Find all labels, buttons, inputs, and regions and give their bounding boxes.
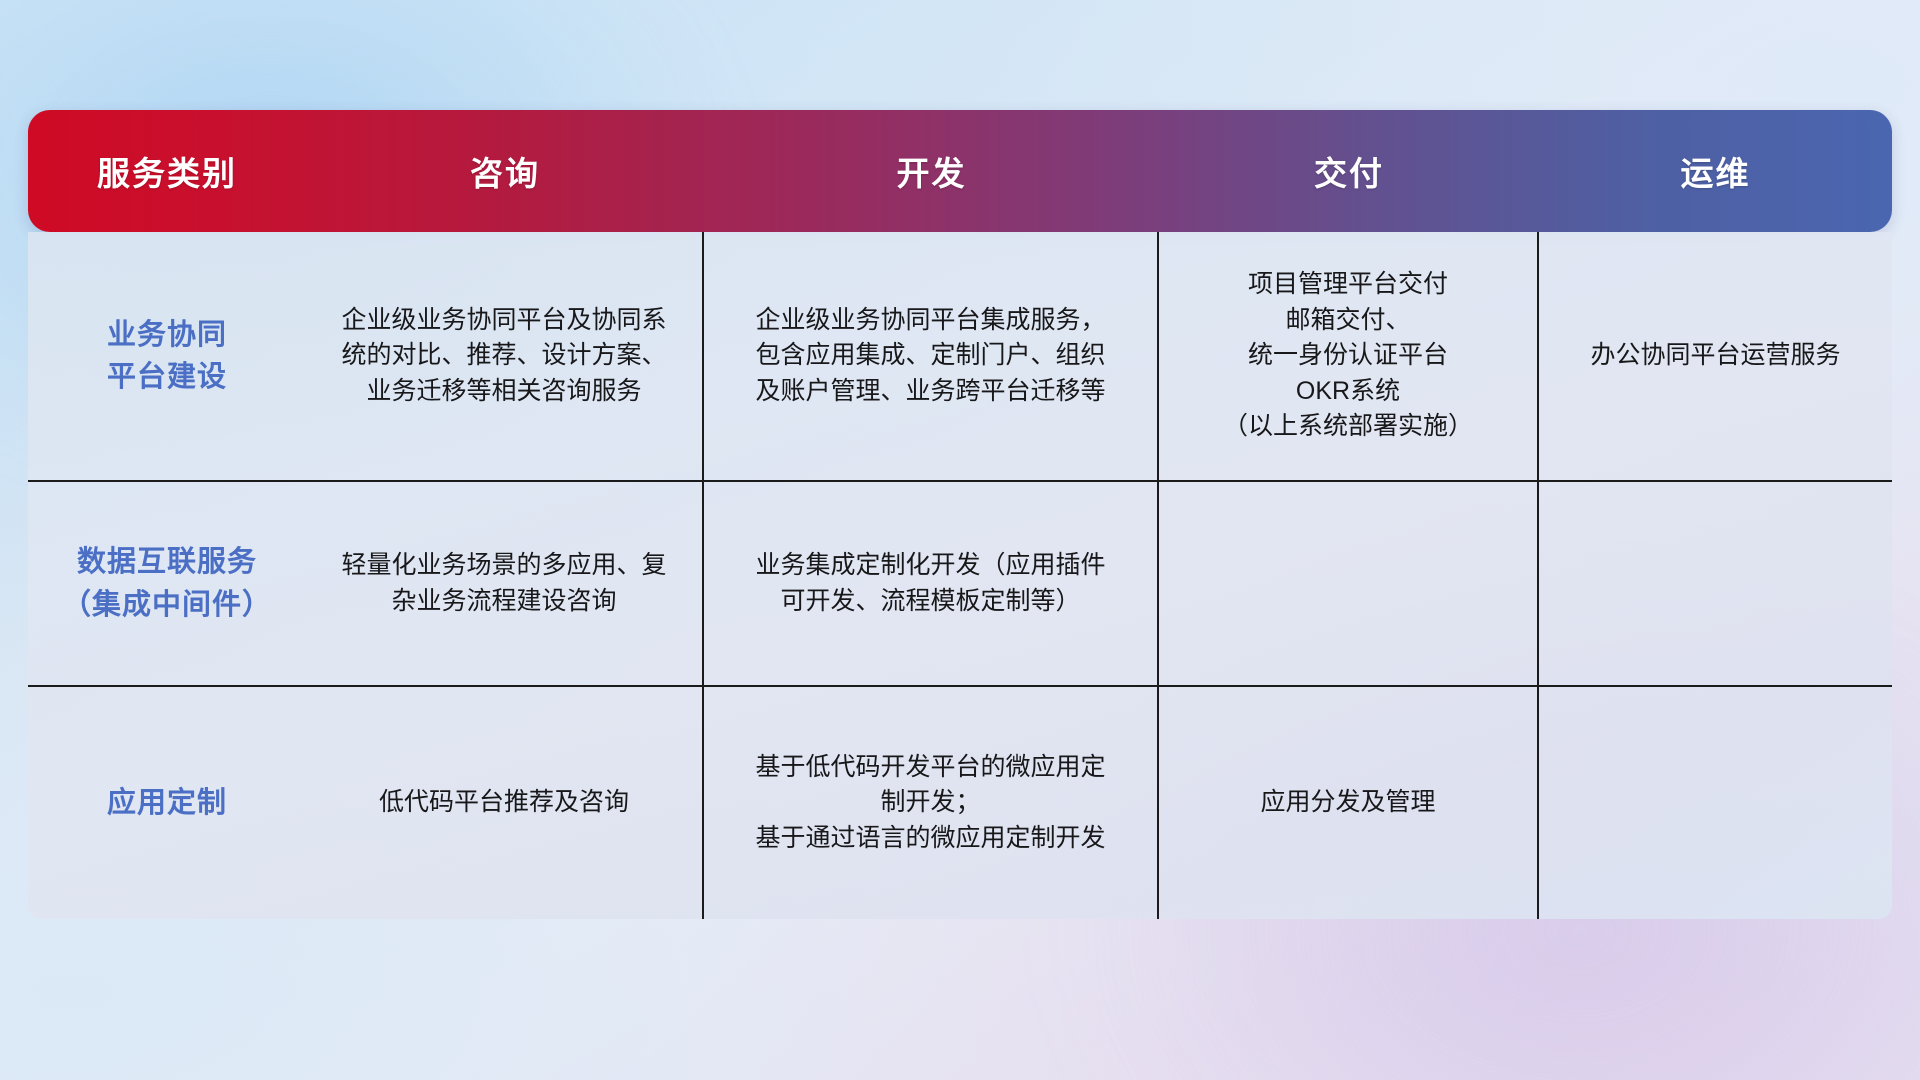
cell-delivery: 应用分发及管理: [1159, 687, 1539, 919]
table-row: 数据互联服务 （集成中间件） 轻量化业务场景的多应用、复 杂业务流程建设咨询 业…: [28, 482, 1892, 687]
table-header-cell-development: 开发: [704, 110, 1159, 232]
cell-development: 企业级业务协同平台集成服务， 包含应用集成、定制门户、组织 及账户管理、业务跨平…: [704, 232, 1159, 480]
cell-consulting: 企业级业务协同平台及协同系 统的对比、推荐、设计方案、 业务迁移等相关咨询服务: [306, 232, 704, 480]
table-row: 业务协同 平台建设 企业级业务协同平台及协同系 统的对比、推荐、设计方案、 业务…: [28, 232, 1892, 482]
table-header-row: 服务类别 咨询 开发 交付 运维: [28, 110, 1892, 232]
cell-development: 基于低代码开发平台的微应用定 制开发； 基于通过语言的微应用定制开发: [704, 687, 1159, 919]
slide-canvas: 服务类别 咨询 开发 交付 运维 业务协同 平台建设 企业级业务协同平台及协同系…: [0, 0, 1920, 1080]
cell-delivery: [1159, 482, 1539, 685]
table-row: 应用定制 低代码平台推荐及咨询 基于低代码开发平台的微应用定 制开发； 基于通过…: [28, 687, 1892, 919]
cell-category: 业务协同 平台建设: [28, 232, 306, 480]
cell-operations: 办公协同平台运营服务: [1539, 232, 1892, 480]
service-category-table: 服务类别 咨询 开发 交付 运维 业务协同 平台建设 企业级业务协同平台及协同系…: [28, 110, 1892, 919]
cell-consulting: 低代码平台推荐及咨询: [306, 687, 704, 919]
table-header-cell-delivery: 交付: [1159, 110, 1539, 232]
table-header-cell-operations: 运维: [1539, 110, 1892, 232]
cell-operations: [1539, 482, 1892, 685]
cell-delivery: 项目管理平台交付 邮箱交付、 统一身份认证平台 OKR系统 （以上系统部署实施）: [1159, 232, 1539, 480]
cell-operations: [1539, 687, 1892, 919]
table-header-cell-category: 服务类别: [28, 110, 306, 232]
table-body: 业务协同 平台建设 企业级业务协同平台及协同系 统的对比、推荐、设计方案、 业务…: [28, 232, 1892, 919]
cell-development: 业务集成定制化开发（应用插件 可开发、流程模板定制等）: [704, 482, 1159, 685]
cell-consulting: 轻量化业务场景的多应用、复 杂业务流程建设咨询: [306, 482, 704, 685]
cell-category: 应用定制: [28, 687, 306, 919]
cell-category: 数据互联服务 （集成中间件）: [28, 482, 306, 685]
table-header-cell-consulting: 咨询: [306, 110, 704, 232]
